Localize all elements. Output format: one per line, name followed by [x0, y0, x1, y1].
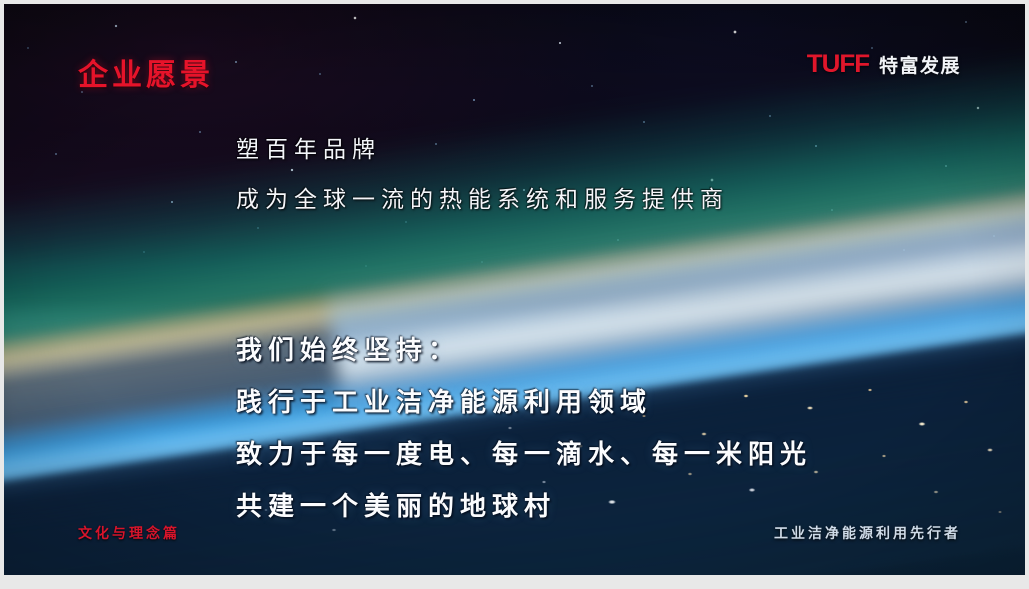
vision-line: 塑百年品牌 — [236, 130, 729, 164]
brand-logo: TUFF 特富发展 — [808, 50, 961, 79]
brand-name-label: 特富发展 — [879, 51, 961, 78]
vision-statement-block: 塑百年品牌 成为全球一流的热能系统和服务提供商 — [236, 130, 729, 214]
footer-tagline: 工业洁净能源利用先行者 — [774, 523, 961, 543]
slide-content: 企业愿景 TUFF 特富发展 塑百年品牌 成为全球一流的热能系统和服务提供商 我… — [4, 4, 1025, 575]
commitment-line: 我们始终坚持： — [236, 330, 812, 367]
page-title: 企业愿景 — [78, 50, 214, 94]
slide-canvas: 企业愿景 TUFF 特富发展 塑百年品牌 成为全球一流的热能系统和服务提供商 我… — [4, 4, 1025, 575]
footer-section-label: 文化与理念篇 — [78, 523, 180, 543]
tuff-wordmark-icon: TUFF — [807, 50, 869, 79]
commitment-line: 践行于工业洁净能源利用领域 — [236, 382, 812, 419]
commitment-line: 共建一个美丽的地球村 — [236, 486, 812, 523]
commitment-line: 致力于每一度电、每一滴水、每一米阳光 — [236, 434, 812, 471]
vision-line: 成为全球一流的热能系统和服务提供商 — [236, 180, 729, 214]
commitment-statement-block: 我们始终坚持： 践行于工业洁净能源利用领域 致力于每一度电、每一滴水、每一米阳光… — [236, 330, 812, 523]
